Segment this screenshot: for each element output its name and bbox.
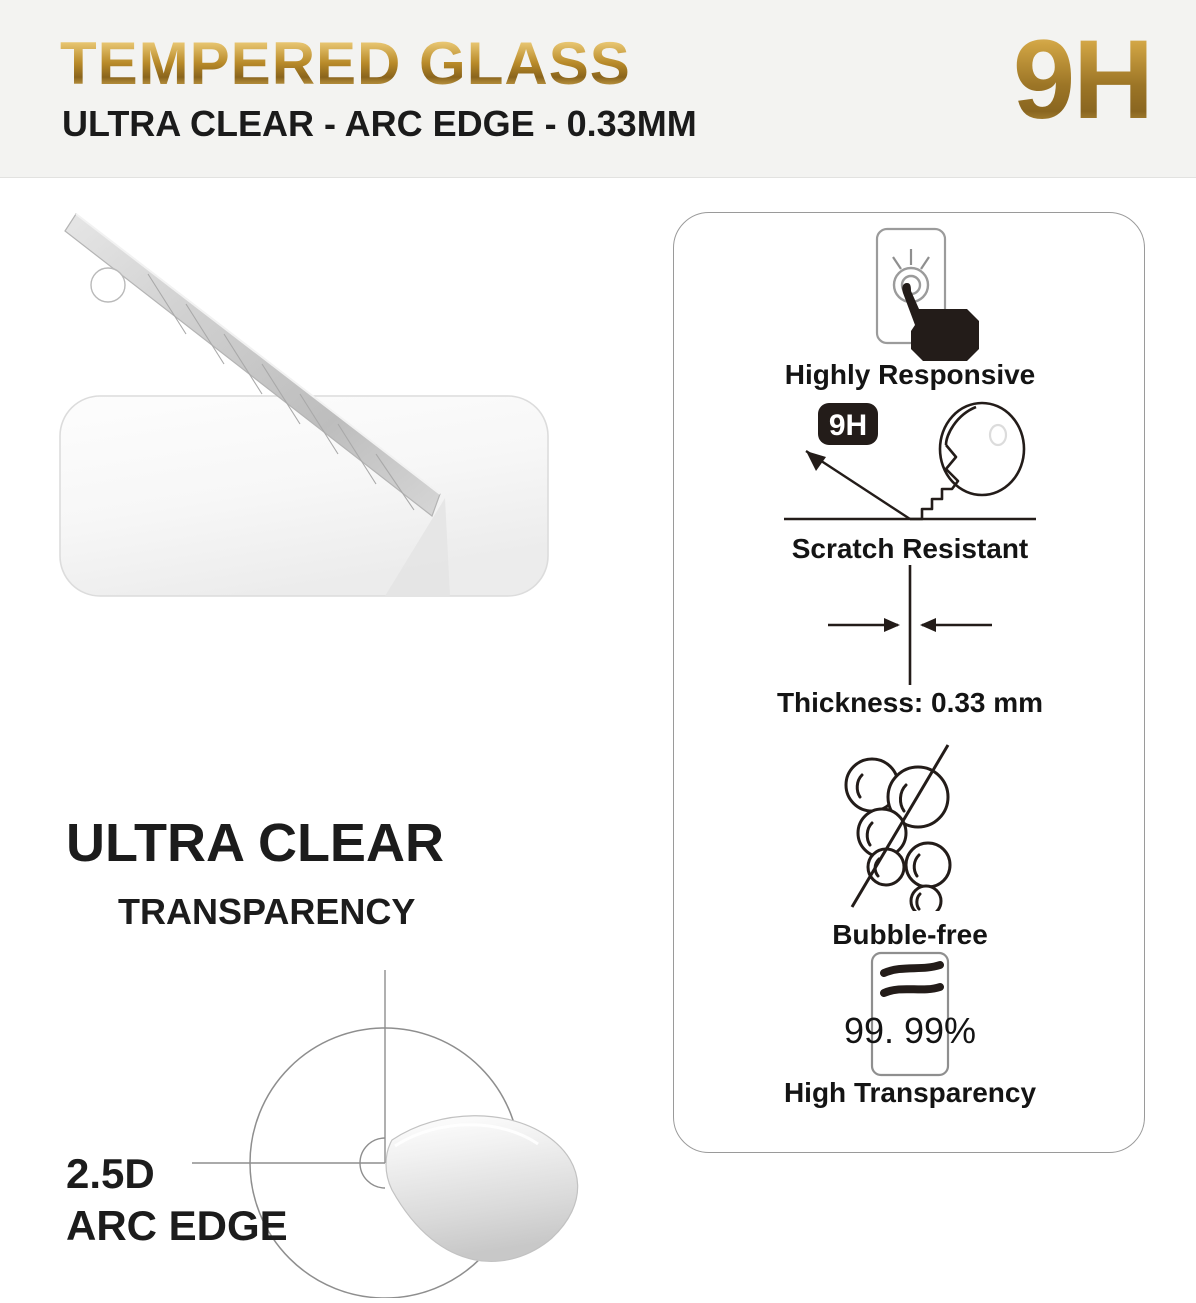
svg-text:9H: 9H [829,409,867,442]
glass-sheet-shape [60,396,548,596]
key-scratch-icon: 9H [770,395,1050,535]
blade-over-glass-illustration [40,198,640,618]
feature-thickness: Thickness: 0.33 mm [674,561,1146,717]
page-subtitle: ULTRA CLEAR - ARC EDGE - 0.33MM [62,106,697,142]
curved-glass-edge-shape [386,1116,578,1262]
ultra-clear-headline: ULTRA CLEAR [66,816,444,870]
transparency-subhead: TRANSPARENCY [118,894,415,930]
feature-label-highly-responsive: Highly Responsive [674,361,1146,389]
feature-scratch-resistant: 9H Scratch Resistant [674,395,1146,563]
features-panel: Highly Responsive 9H Scratch Resistant [673,212,1145,1153]
feature-bubble-free: Bubble-free [674,741,1146,949]
touch-phone-icon [815,221,1005,361]
arc-edge-label-text: ARC EDGE [66,1205,288,1247]
feature-label-bubble-free: Bubble-free [674,921,1146,949]
left-column: ULTRA CLEAR TRANSPARENCY [0,178,660,1161]
header-banner: TEMPERED GLASS ULTRA CLEAR - ARC EDGE - … [0,0,1196,178]
feature-highly-responsive: Highly Responsive [674,221,1146,389]
thickness-arrows-icon [800,561,1020,689]
arc-edge-label-25d: 2.5D [66,1153,155,1195]
arc-edge-illustration [40,958,660,1298]
feature-high-transparency: 99. 99% High Transparency [674,949,1146,1107]
feature-label-thickness: Thickness: 0.33 mm [674,689,1146,717]
feature-label-scratch-resistant: Scratch Resistant [674,535,1146,563]
hardness-badge-9h: 9H [1013,24,1152,136]
transparency-phone-icon: 99. 99% [810,949,1010,1079]
bubbles-crossed-icon [810,741,1010,911]
infographic-page: TEMPERED GLASS ULTRA CLEAR - ARC EDGE - … [0,0,1196,1161]
feature-label-high-transparency: High Transparency [674,1079,1146,1107]
page-title: TEMPERED GLASS [60,34,631,94]
transparency-value: 99. 99% [844,1010,976,1051]
